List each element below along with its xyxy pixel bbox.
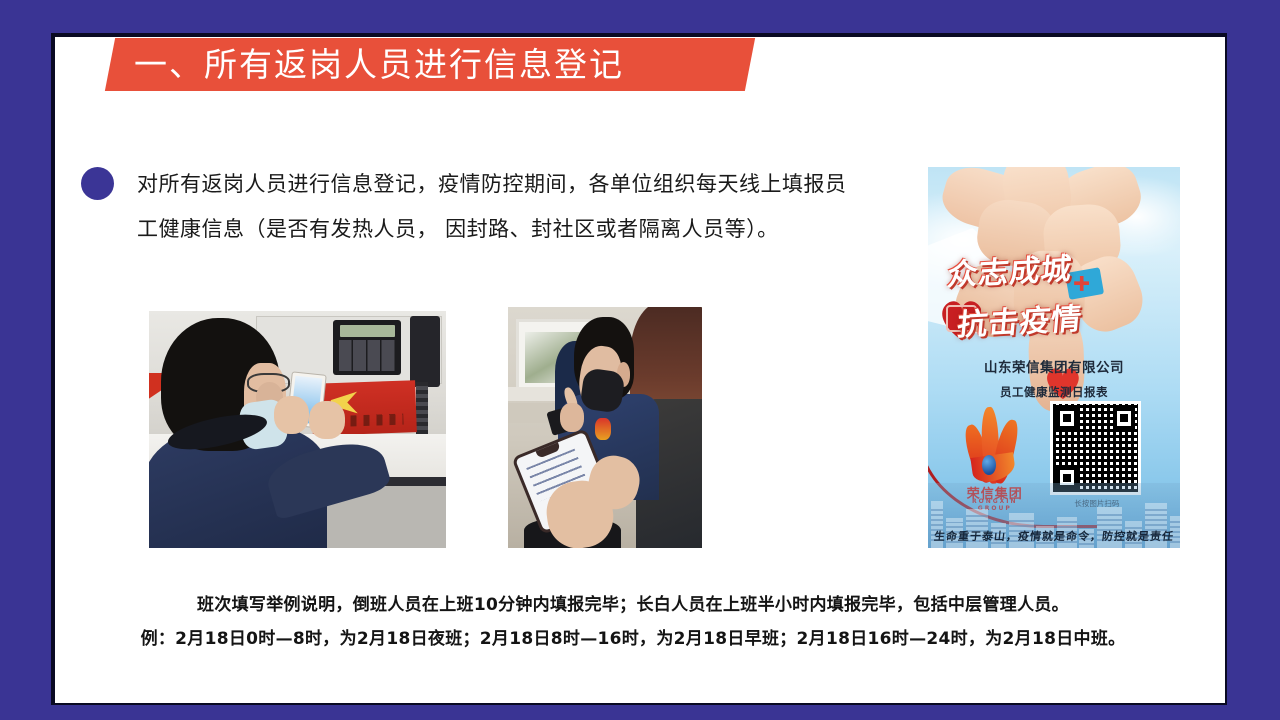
page-title: 一、所有返岗人员进行信息登记 <box>134 48 624 81</box>
health-report-poster: 众志成城 抗击疫情 山东荣信集团有限公司 员工健康监测日报表 荣信集团 RONG… <box>928 167 1180 548</box>
poster-headline-line2: 抗击疫情 <box>956 293 1085 343</box>
photo-employees-filling-form <box>508 307 702 548</box>
poster-slogan: 生命重于泰山，疫情就是命令，防控就是责任 <box>928 528 1180 544</box>
qr-code-icon[interactable] <box>1050 401 1141 494</box>
bottom-note-line-2: 例：2月18日0时—8时，为2月18日夜班；2月18日8时—16时，为2月18日… <box>78 622 1188 656</box>
photo-employee-phone-desk <box>149 311 446 548</box>
bottom-note: 班次填写举例说明，倒班人员在上班10分钟内填报完毕；长白人员在上班半小时内填报完… <box>78 588 1188 656</box>
poster-headline-line1: 众志成城 <box>946 244 1075 294</box>
section-title-banner: 一、所有返岗人员进行信息登记 <box>105 38 755 91</box>
poster-subtitle: 员工健康监测日报表 <box>928 384 1180 400</box>
poster-company-name: 山东荣信集团有限公司 <box>928 356 1180 376</box>
bullet-point-icon <box>81 167 114 200</box>
slide-root: 一、所有返岗人员进行信息登记 对所有返岗人员进行信息登记，疫情防控期间，各单位组… <box>0 0 1280 720</box>
body-paragraph: 对所有返岗人员进行信息登记，疫情防控期间，各单位组织每天线上填报员工健康信息（是… <box>137 162 857 252</box>
bottom-note-line-1: 班次填写举例说明，倒班人员在上班10分钟内填报完毕；长白人员在上班半小时内填报完… <box>78 588 1188 622</box>
